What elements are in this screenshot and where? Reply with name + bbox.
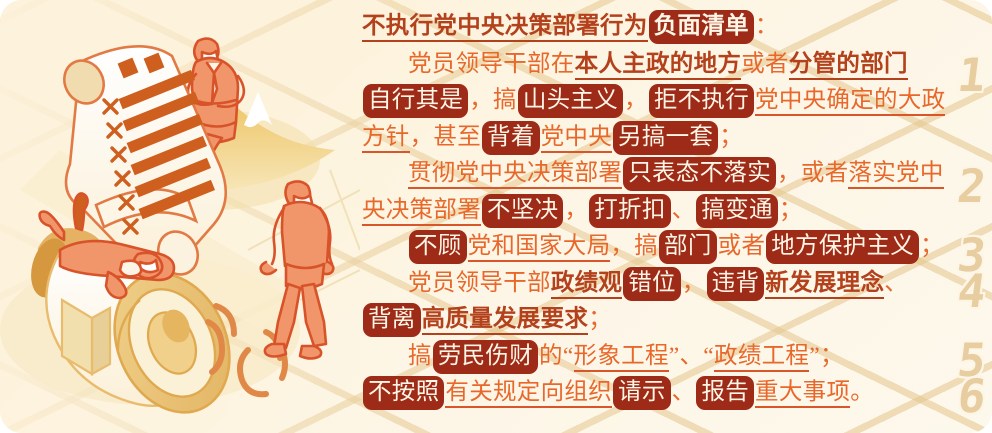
body-text: ， — [564, 197, 588, 223]
list-item-2: 贯彻党中央决策部署只表态不落实，或者落实党中央决策部署不坚决，打折扣、搞变通； — [362, 155, 964, 228]
title-colon: ： — [755, 13, 779, 39]
body-text: ，搞 — [469, 87, 517, 113]
highlight-chip: 拒不执行 — [649, 84, 754, 118]
body-text: ”、“ — [669, 343, 714, 369]
body-text: ，甚至 — [410, 124, 481, 150]
body-text: 或者 — [741, 51, 789, 77]
highlight-chip: 打折扣 — [589, 194, 670, 228]
body-text: ”； — [809, 343, 844, 369]
poster-title-line: 不执行党中央决策部署行为负面清单： — [362, 8, 964, 45]
highlight-chip: 另搞一套 — [613, 121, 718, 155]
list-item-4: 党员领导干部政绩观错位，违背新发展理念、背离高质量发展要求； — [362, 265, 964, 338]
body-text: 、 — [884, 270, 908, 296]
body-text: ； — [719, 124, 743, 150]
body-text: 或者 — [718, 233, 766, 259]
emphasis-text: 贯彻党中央决策部署 — [408, 160, 622, 189]
illustration-megaphone-checklist — [0, 0, 360, 433]
highlight-chip: 搞变通 — [696, 194, 777, 228]
emphasis-text: 分管的部门 — [789, 51, 908, 80]
emphasis-text: 政绩观 — [551, 270, 622, 299]
body-text: ； — [588, 306, 612, 332]
highlight-chip: 山头主义 — [518, 84, 623, 118]
emphasis-text: 政绩工程 — [714, 343, 809, 372]
emphasis-text: 有关规定向组织 — [445, 379, 612, 408]
highlight-chip: 部门 — [659, 230, 717, 264]
highlight-chip: 报告 — [696, 376, 754, 410]
body-text: ， — [682, 270, 706, 296]
list-item-1: 党员领导干部在本人主政的地方或者分管的部门自行其是，搞山头主义，拒不执行党中央确… — [362, 46, 964, 156]
body-text: 、 — [672, 197, 696, 223]
highlight-chip: 错位 — [623, 267, 681, 301]
body-text: ； — [920, 233, 944, 259]
highlight-chip: 只表态不落实 — [623, 157, 776, 191]
list-item-5: 搞劳民伤财的“形象工程”、“政绩工程”； — [362, 338, 964, 375]
title-chip-negative-list: 负面清单 — [649, 10, 754, 44]
body-text: 。 — [850, 379, 874, 405]
emphasis-text: 形象工程 — [574, 343, 669, 372]
emphasis-text: 新发展理念 — [765, 270, 884, 299]
highlight-chip: 违背 — [707, 267, 765, 301]
highlight-chip: 不按照 — [363, 376, 444, 410]
body-text: 搞 — [408, 343, 432, 369]
text-column: 不执行党中央决策部署行为负面清单： 党员领导干部在本人主政的地方或者分管的部门自… — [362, 8, 964, 411]
highlight-chip: 地方保护主义 — [766, 230, 919, 264]
body-text: 党员领导干部 — [408, 270, 551, 296]
emphasis-text: 党中央 — [541, 124, 612, 153]
highlight-chip: 不坚决 — [482, 194, 563, 228]
list-item-6: 不按照有关规定向组织请示、报告重大事项。 — [362, 374, 964, 411]
body-text: ，搞 — [610, 233, 658, 259]
body-text: ； — [779, 197, 803, 223]
highlight-chip: 背离 — [363, 303, 421, 337]
title-prefix: 不执行党中央决策部署行为 — [362, 13, 648, 42]
highlight-chip: 自行其是 — [363, 84, 468, 118]
body-text: 的“ — [539, 343, 574, 369]
body-text: 、 — [672, 379, 696, 405]
emphasis-text: 重大事项 — [755, 379, 850, 408]
highlight-chip: 劳民伤财 — [433, 340, 538, 374]
highlight-chip: 请示 — [613, 376, 671, 410]
emphasis-text: 本人主政的地方 — [575, 51, 742, 80]
highlight-chip: 不顾 — [409, 230, 467, 264]
body-text: ，或者 — [777, 160, 848, 186]
emphasis-text: 党和国家大局 — [468, 233, 611, 262]
body-text: 党员领导干部在 — [408, 51, 575, 77]
highlight-chip: 背着 — [482, 121, 540, 155]
poster-root: 1 2 3 4 5 6 — [0, 0, 992, 433]
emphasis-text: 高质量发展要求 — [422, 306, 589, 335]
list-item-3: 不顾党和国家大局，搞部门或者地方保护主义； — [362, 228, 964, 265]
body-text: ， — [624, 87, 648, 113]
